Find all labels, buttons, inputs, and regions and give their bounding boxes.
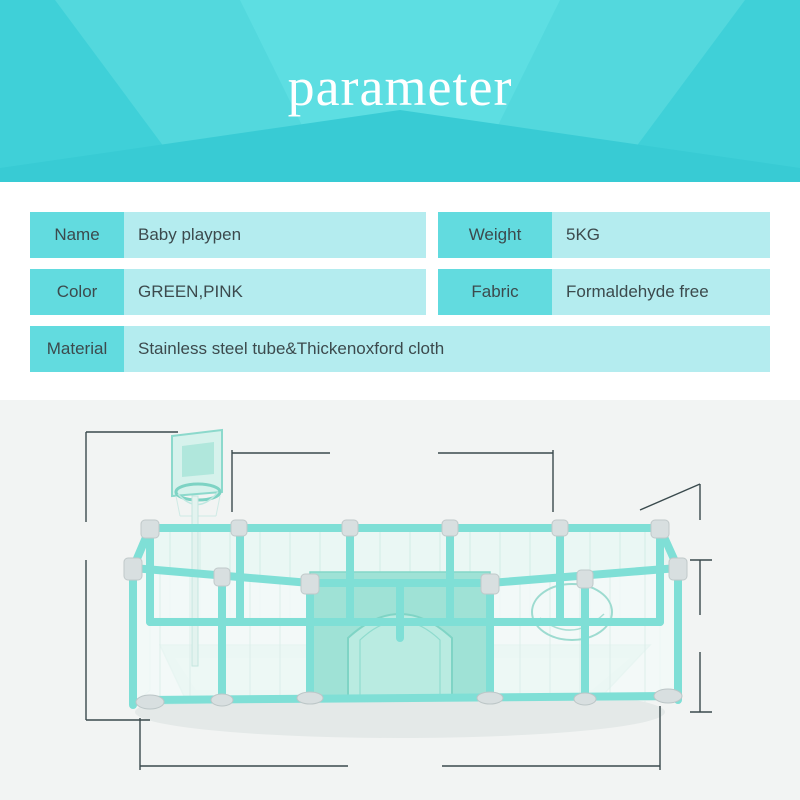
param-value-color: GREEN,PINK (124, 269, 426, 315)
param-label-weight: Weight (438, 212, 552, 258)
param-cell-name: Name Baby playpen (30, 212, 426, 258)
parameter-table: Name Baby playpen Weight 5KG Color GREEN… (30, 212, 770, 383)
param-label-fabric: Fabric (438, 269, 552, 315)
table-row: Color GREEN,PINK Fabric Formaldehyde fre… (30, 269, 770, 315)
param-value-name: Baby playpen (124, 212, 426, 258)
param-label-material: Material (30, 326, 124, 372)
param-value-material: Stainless steel tube&Thickenoxford cloth (124, 326, 770, 372)
header-banner: parameter (0, 0, 800, 182)
playpen-illustration (0, 400, 800, 800)
page-title: parameter (0, 56, 800, 118)
param-cell-fabric: Fabric Formaldehyde free (438, 269, 770, 315)
page-root: parameter Name Baby playpen Weight 5KG C… (0, 0, 800, 800)
param-value-weight: 5KG (552, 212, 770, 258)
param-label-color: Color (30, 269, 124, 315)
table-row: Material Stainless steel tube&Thickenoxf… (30, 326, 770, 372)
param-cell-material: Material Stainless steel tube&Thickenoxf… (30, 326, 770, 372)
product-photo: 190cm 129cm 107cm 66cm 235cm (0, 400, 800, 800)
param-cell-weight: Weight 5KG (438, 212, 770, 258)
table-row: Name Baby playpen Weight 5KG (30, 212, 770, 258)
param-value-fabric: Formaldehyde free (552, 269, 770, 315)
column-gap (426, 269, 438, 315)
column-gap (426, 212, 438, 258)
param-cell-color: Color GREEN,PINK (30, 269, 426, 315)
param-label-name: Name (30, 212, 124, 258)
